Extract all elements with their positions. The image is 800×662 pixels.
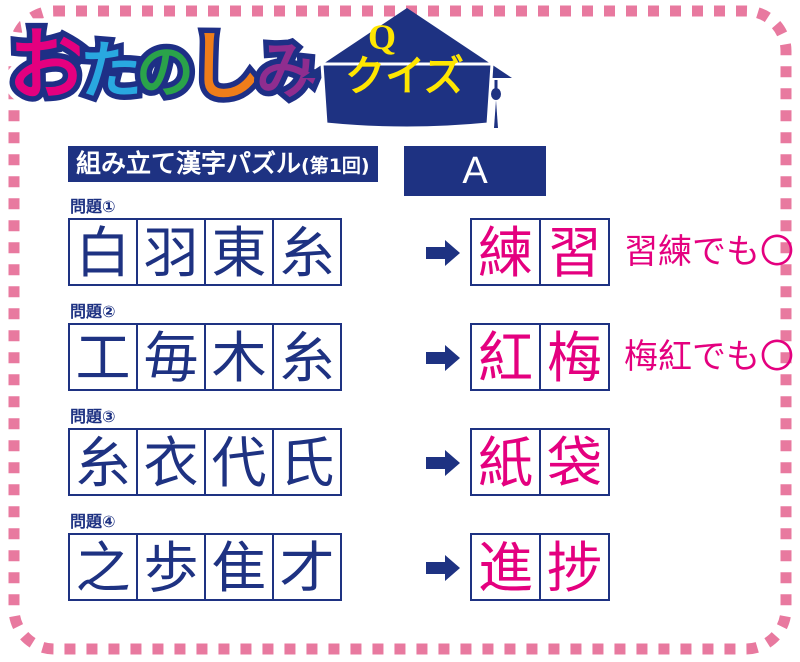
answer-cells: 進 捗 [470, 533, 608, 601]
question-cells: 之 歩 隹 才 [68, 533, 340, 601]
question-cell: 歩 [136, 533, 206, 601]
logo-char-o: お [8, 14, 80, 118]
question-label: 問題② [70, 303, 116, 321]
puzzle-title-main: 組み立て漢字パズル [76, 149, 301, 178]
right-arrow-icon [426, 240, 462, 266]
question-cell: 氏 [272, 428, 342, 496]
logo-char-no: の [136, 20, 188, 124]
right-arrow-icon [426, 345, 462, 371]
answer-cell: 紅 [470, 323, 541, 391]
question-cell: 工 [68, 323, 138, 391]
question-label: 問題④ [70, 513, 116, 531]
answer-note: 習練でも〇 [624, 228, 794, 276]
logo-quiz-text: クイズ [322, 55, 487, 99]
question-cell: 糸 [68, 428, 138, 496]
answer-cells: 練 習 [470, 218, 608, 286]
logo-header: おたのしみ おたのしみ Q クイズ [0, 0, 520, 132]
puzzle-row: 問題③ 糸 衣 代 氏 紙 袋 [68, 408, 780, 513]
question-cell: 木 [204, 323, 274, 391]
answer-cell: 袋 [539, 428, 610, 496]
question-cell: 衣 [136, 428, 206, 496]
answer-cell: 進 [470, 533, 541, 601]
puzzle-title-banner: 組み立て漢字パズル(第1回) [68, 146, 378, 182]
answer-column-label: A [404, 146, 546, 196]
answer-cell: 習 [539, 218, 610, 286]
question-cell: 糸 [272, 323, 342, 391]
answer-cells: 紙 袋 [470, 428, 608, 496]
puzzle-row: 問題④ 之 歩 隹 才 進 捗 [68, 513, 780, 618]
answer-cell: 梅 [539, 323, 610, 391]
logo-title-otanoshimi: おたのしみ [8, 14, 318, 122]
logo-char-ta: た [80, 19, 136, 123]
answer-cells: 紅 梅 [470, 323, 608, 391]
answer-note: 梅紅でも〇 [624, 333, 794, 381]
question-cells: 工 毎 木 糸 [68, 323, 340, 391]
logo-char-shi: し [188, 15, 256, 119]
right-arrow-icon [426, 450, 462, 476]
answer-cell: 捗 [539, 533, 610, 601]
question-cell: 毎 [136, 323, 206, 391]
puzzle-title-suffix: (第1回) [301, 155, 370, 177]
question-cell: 之 [68, 533, 138, 601]
puzzle-row: 問題① 白 羽 東 糸 練 習 習練でも〇 [68, 198, 780, 303]
question-cell: 糸 [272, 218, 342, 286]
question-cells: 白 羽 東 糸 [68, 218, 340, 286]
puzzle-row: 問題② 工 毎 木 糸 紅 梅 梅紅でも〇 [68, 303, 780, 408]
cap-letter-q: Q [368, 16, 396, 58]
question-label: 問題① [70, 198, 116, 216]
question-label: 問題③ [70, 408, 116, 426]
question-cell: 代 [204, 428, 274, 496]
right-arrow-icon [426, 555, 462, 581]
question-cells: 糸 衣 代 氏 [68, 428, 340, 496]
question-cell: 羽 [136, 218, 206, 286]
question-cell: 才 [272, 533, 342, 601]
question-cell: 東 [204, 218, 274, 286]
answer-cell: 練 [470, 218, 541, 286]
question-cell: 隹 [204, 533, 274, 601]
answer-cell: 紙 [470, 428, 541, 496]
question-cell: 白 [68, 218, 138, 286]
